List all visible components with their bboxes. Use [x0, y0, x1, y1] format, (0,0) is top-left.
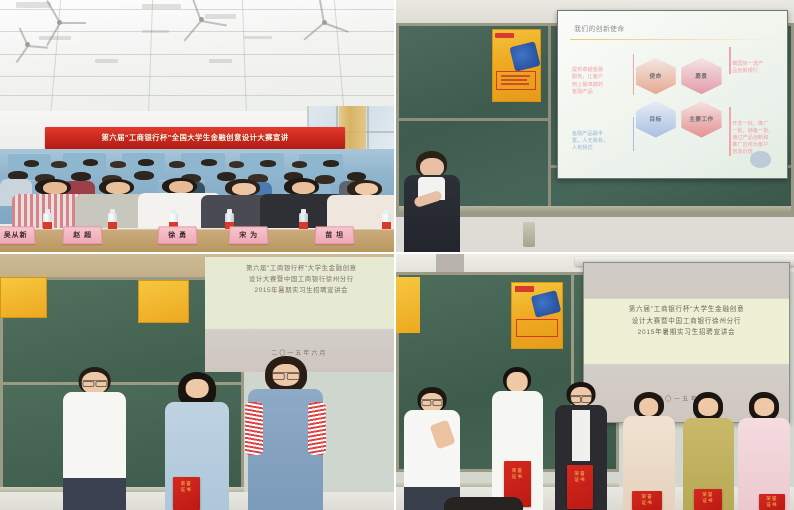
foreground-audience-head	[444, 497, 524, 510]
projection-screen: 第六届"工商银行杯"大学生金融创意 设计大赛暨中国工商银行徐州分行 2015年暑…	[205, 257, 394, 372]
slide-title: 我们的创新使命	[574, 23, 624, 33]
person-teacher	[404, 387, 460, 510]
hex-mission: 使命	[636, 58, 676, 94]
person-student-1: 荣誉 证书	[165, 372, 228, 510]
honor-certificate: 荣誉 证书	[694, 489, 722, 510]
honor-certificate: 荣誉 证书	[759, 494, 785, 510]
person-shirt	[63, 392, 126, 481]
person-face	[639, 398, 659, 416]
certificate-text: 荣誉 证书	[639, 494, 656, 506]
presentation-photo: 我们的创新使命 提供卓越金融 服务，让客户 用上最卓越的 金融产品 做国际一流产…	[396, 0, 794, 252]
audience-crowd	[0, 159, 394, 227]
lecture-hall-photo: 第六届"工商银行杯"全国大学生金融创意设计大赛宣讲	[0, 0, 394, 252]
event-banner: 第六届"工商银行杯"全国大学生金融创意设计大赛宣讲	[45, 127, 344, 148]
projection-screen: 我们的创新使命 提供卓越金融 服务，让客户 用上最卓越的 金融产品 做国际一流产…	[557, 10, 788, 179]
name-placard-label: 宋 为	[239, 230, 258, 240]
person-student-1: 荣誉 证书	[492, 367, 544, 510]
hex-label: 目标	[650, 115, 662, 123]
award-ceremony-photo-group: 第六届"工商银行杯"大学生金融创意 设计大赛暨中国工商银行徐州分行 2015年暑…	[396, 254, 794, 510]
person-student-2	[248, 356, 323, 510]
slide-note-text: 开发一批，推广 一批，储备一批， 通过产品创新和 推广应用为客户 创造价值	[732, 121, 774, 156]
slide-note-top-left: 提供卓越金融 服务，让客户 用上最卓越的 金融产品	[572, 53, 631, 96]
icbc-poster	[492, 29, 542, 102]
glasses-icon	[82, 380, 107, 386]
award-ceremony-photo-small: 第六届"工商银行杯"大学生金融创意 设计大赛暨中国工商银行徐州分行 2015年暑…	[0, 254, 394, 510]
person-student-4: 荣誉 证书	[683, 392, 735, 510]
name-placard-label: 吴从新	[4, 230, 28, 240]
certificate-text: 荣誉 证书	[765, 496, 779, 508]
honor-certificate: 荣誉 证书	[567, 465, 594, 509]
slide-decoration-ellipse	[750, 151, 771, 168]
ceiling-fan	[173, 11, 229, 29]
ceiling	[0, 0, 394, 118]
slide-note-bottom-right: 开发一批，推广 一批，储备一批， 通过产品创新和 推广应用为客户 创造价值	[732, 106, 785, 156]
name-placard: 宋 为	[228, 227, 268, 244]
name-placard-label: 苗 坦	[325, 230, 344, 240]
slide-note-text: 金融产品最丰 富，人无我有， 人有我优	[572, 131, 608, 151]
ceiling-fan	[32, 13, 88, 31]
name-placard: 苗 坦	[315, 227, 355, 244]
photo-collage: 第六届"工商银行杯"全国大学生金融创意设计大赛宣讲	[0, 0, 794, 510]
hex-label: 主要工作	[689, 115, 713, 123]
slide-note-bottom-left: 金融产品最丰 富，人无我有， 人有我优	[572, 116, 631, 152]
name-placard: 赵 超	[63, 227, 103, 244]
name-placard: 徐 勇	[157, 227, 197, 244]
wall-fixture	[523, 222, 535, 247]
ceiling-fan	[8, 38, 48, 52]
glasses-icon	[421, 399, 442, 404]
person-striped-sleeve	[308, 402, 326, 454]
photo-panel-bottom-right[interactable]: 第六届"工商银行杯"大学生金融创意 设计大赛暨中国工商银行徐州分行 2015年暑…	[396, 254, 794, 510]
person-shirt	[404, 410, 460, 489]
ceiling-light	[142, 30, 170, 34]
hex-vision: 愿景	[681, 58, 721, 94]
glasses-icon	[271, 372, 299, 378]
photo-panel-top-left[interactable]: 第六届"工商银行杯"全国大学生金融创意设计大赛宣讲	[0, 0, 396, 254]
slide-hex-diagram: 使命 愿景 目标 主要工作	[634, 58, 726, 145]
person-inner-shirt	[572, 410, 591, 461]
ceiling-light	[209, 59, 233, 63]
hex-main-work: 主要工作	[681, 101, 721, 137]
icbc-poster-partial	[396, 277, 420, 333]
name-placard: 吴从新	[0, 227, 36, 244]
person-student-3: 荣誉 证书	[623, 392, 675, 510]
speaker-person	[404, 151, 460, 252]
person-student-5: 荣誉 证书	[738, 392, 790, 510]
glasses-icon	[570, 395, 592, 401]
screen-title-text: 第六届"工商银行杯"大学生金融创意 设计大赛暨中国工商银行徐州分行 2015年暑…	[590, 304, 783, 339]
screen-title-text: 第六届"工商银行杯"大学生金融创意 设计大赛暨中国工商银行徐州分行 2015年暑…	[212, 263, 390, 296]
slide-note-top-right: 做国际一流产 品创新银行	[732, 46, 785, 75]
name-placard-label: 赵 超	[73, 230, 92, 240]
wall-notice	[436, 254, 464, 272]
person-striped-sleeve	[245, 402, 263, 454]
person-teacher	[63, 367, 126, 510]
ceiling-light	[142, 4, 181, 10]
photo-panel-top-right[interactable]: 我们的创新使命 提供卓越金融 服务，让客户 用上最卓越的 金融产品 做国际一流产…	[396, 0, 794, 254]
ceiling-fan	[299, 14, 349, 30]
hex-goal: 目标	[636, 101, 676, 137]
person-trousers	[63, 478, 126, 510]
person-face	[507, 372, 528, 392]
slide-note-text: 提供卓越金融 服务，让客户 用上最卓越的 金融产品	[572, 67, 603, 95]
photo-panel-bottom-left[interactable]: 第六届"工商银行杯"大学生金融创意 设计大赛暨中国工商银行徐州分行 2015年暑…	[0, 254, 396, 510]
poster-artwork	[531, 291, 561, 319]
slide-divider	[570, 39, 776, 40]
certificate-text: 荣誉 证书	[573, 471, 588, 483]
icbc-poster	[138, 280, 189, 324]
hex-label: 使命	[650, 72, 662, 80]
person-face	[699, 398, 719, 416]
icbc-poster	[511, 282, 563, 349]
hex-label: 愿景	[695, 72, 707, 80]
event-banner-text: 第六届"工商银行杯"全国大学生金融创意设计大赛宣讲	[102, 132, 289, 143]
ceiling-light	[95, 59, 119, 63]
certificate-text: 荣誉 证书	[179, 481, 194, 493]
person-face	[754, 398, 774, 416]
icbc-poster	[0, 277, 47, 318]
screen-date-text: 二〇一五年六月	[205, 348, 394, 357]
honor-certificate: 荣誉 证书	[632, 491, 662, 510]
name-placard-label: 徐 勇	[168, 230, 187, 240]
ceiling-light	[16, 2, 51, 8]
certificate-text: 荣誉 证书	[510, 468, 525, 480]
certificate-text: 荣誉 证书	[700, 492, 715, 504]
poster-artwork	[509, 41, 540, 71]
ceiling-light	[244, 36, 272, 40]
honor-certificate: 荣誉 证书	[173, 477, 199, 510]
slide-note-text: 做国际一流产 品创新银行	[732, 61, 763, 74]
person-face	[186, 379, 209, 398]
person-student-2: 荣誉 证书	[555, 382, 607, 510]
